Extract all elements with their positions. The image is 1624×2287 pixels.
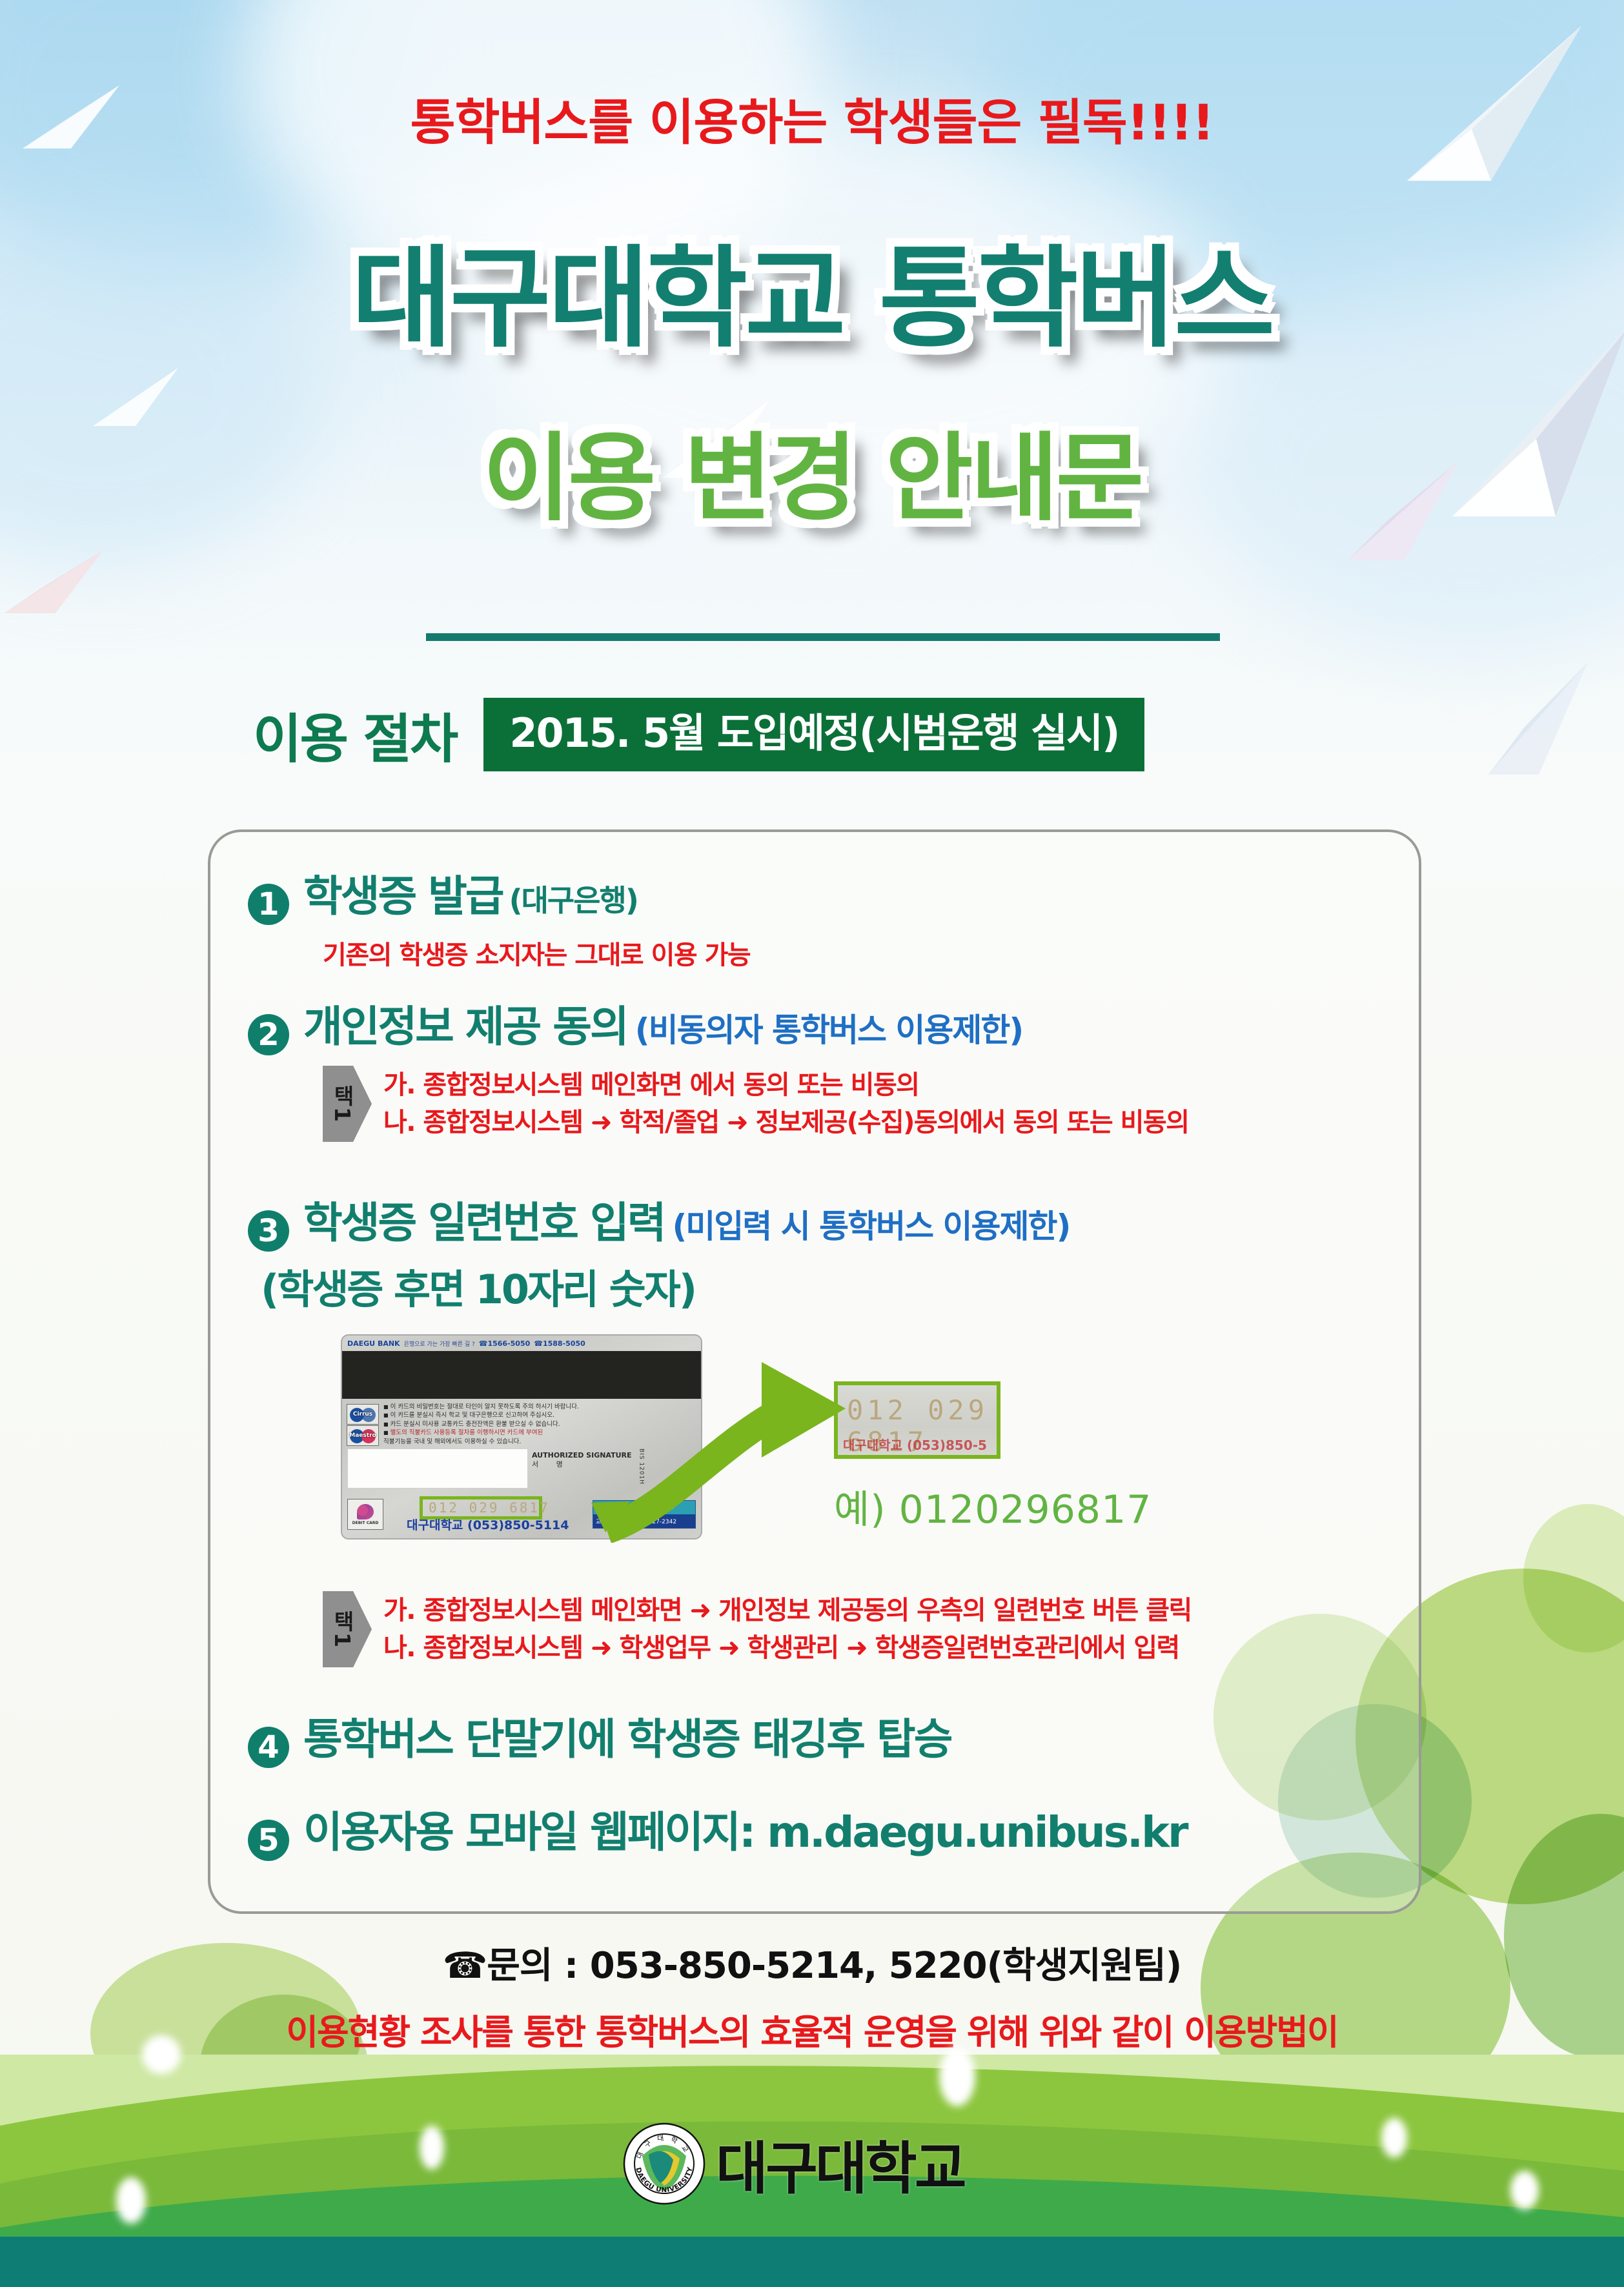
card-scheme-logos: Cirrus Maestro — [346, 1403, 380, 1446]
glow-dot — [939, 2047, 975, 2106]
glow-dot — [1381, 2118, 1407, 2158]
closing-notice-line1: 이용현황 조사를 통한 통학버스의 효율적 운영을 위해 위와 같이 이용방법이 — [0, 2006, 1624, 2058]
university-name: 대구대학교 — [716, 2123, 964, 2205]
university-emblem-icon: 대 구 대 학 교 DAEGU UNIVERSITY 1956 — [623, 2122, 705, 2205]
step-2-choice-a: 가. 종합정보시스템 메인화면 에서 동의 또는 비동의 — [383, 1066, 1189, 1104]
step-2-choice-tag: 택1 — [323, 1066, 372, 1142]
paper-plane-icon — [0, 542, 110, 620]
glow-dot — [1510, 2171, 1539, 2210]
step-4-head: 4 통학버스 단말기에 학생증 태깅후 탑승 — [248, 1705, 951, 1767]
step-3-head: 3 학생증 일련번호 입력 (미입력 시 통학버스 이용제한) — [248, 1188, 1192, 1250]
step-3-title: 학생증 일련번호 입력 — [303, 1188, 664, 1250]
step-5-head: 5 이용자용 모바일 웹페이지: m.daegu.unibus.kr — [248, 1798, 1187, 1860]
step-1-subtext: 기존의 학생증 소지자는 그대로 이용 가능 — [323, 934, 750, 971]
serial-zoom-callout: 012 029 6817 대구대학교 (053)850-5 예) 0120296… — [834, 1381, 1163, 1534]
step-2: 2 개인정보 제공 동의 (비동의자 통학버스 이용제한) 택1 가. 종합정보… — [248, 992, 1189, 1142]
card-phone-1: ☎1566-5050 — [479, 1339, 531, 1348]
serial-example-text: 예) 0120296817 — [834, 1478, 1163, 1534]
section-banner: 2015. 5월 도입예정(시범운행 실시) — [483, 698, 1144, 771]
debit-mark-shape — [357, 1504, 374, 1520]
paper-plane-icon — [1485, 652, 1594, 781]
step-3-choice-a: 가. 종합정보시스템 메인화면 ➜ 개인정보 제공동의 우측의 일련번호 버튼 … — [383, 1592, 1192, 1629]
step-2-head: 2 개인정보 제공 동의 (비동의자 통학버스 이용제한) — [248, 992, 1189, 1054]
step-2-choice-group: 택1 가. 종합정보시스템 메인화면 에서 동의 또는 비동의 나. 종합정보시… — [323, 1066, 1189, 1142]
card-phone-2: ☎1588-5050 — [534, 1339, 585, 1348]
step-5-badge: 5 — [248, 1820, 289, 1861]
step-4: 4 통학버스 단말기에 학생증 태깅후 탑승 — [248, 1705, 951, 1767]
glow-dot — [420, 2126, 444, 2170]
glow-dot — [116, 2177, 146, 2224]
card-bank-phone: 대구대학교 (053)850-5114 — [407, 1516, 569, 1533]
card-serial-number: 012 029 6817 — [429, 1500, 550, 1516]
step-4-title: 통학버스 단말기에 학생증 태깅후 탑승 — [303, 1705, 951, 1767]
bottom-teal-band — [0, 2237, 1624, 2287]
step-2-choice-lines: 가. 종합정보시스템 메인화면 에서 동의 또는 비동의 나. 종합정보시스템 … — [383, 1066, 1189, 1142]
step-3-choice-tag: 택1 — [323, 1591, 372, 1667]
bullet-icon: ■ — [383, 1404, 389, 1410]
maestro-icon: Maestro — [347, 1425, 379, 1446]
bullet-icon: ■ — [383, 1421, 389, 1427]
cirrus-icon: Cirrus — [347, 1404, 379, 1425]
step-1: 1 학생증 발급 (대구은행) 기존의 학생증 소지자는 그대로 이용 가능 — [248, 862, 750, 971]
contact-line: ☎문의 : 053-850-5214, 5220(학생지원팀) — [0, 1936, 1624, 1989]
step-1-head: 1 학생증 발급 (대구은행) — [248, 862, 750, 924]
debit-card-label: DEBIT CARD — [352, 1521, 379, 1525]
watercolor-blob — [1523, 1504, 1624, 1652]
step-3-choice-group: 택1 가. 종합정보시스템 메인화면 ➜ 개인정보 제공동의 우측의 일련번호 … — [323, 1591, 1192, 1667]
curved-arrow-icon — [568, 1349, 865, 1543]
card-bank-name: DAEGU BANK — [347, 1339, 400, 1348]
section-title: 이용 절차 — [253, 696, 456, 773]
poster-title-line1: 대구대학교 통학버스 — [0, 209, 1624, 368]
card-bank-slogan: 은행으로 가는 가장 빠른 길 ? — [404, 1339, 475, 1348]
glow-dot — [142, 2035, 181, 2074]
debit-card-icon: DEBIT CARD — [347, 1499, 383, 1530]
maestro-label: Maestro — [349, 1432, 376, 1439]
poster-title-line2: 이용 변경 안내문 — [0, 400, 1624, 539]
card-term-text: 별도의 직불카드 사용등록 절차를 이행하시면 카드에 부여된 — [391, 1429, 543, 1436]
cirrus-label: Cirrus — [353, 1411, 372, 1418]
step-2-title: 개인정보 제공 동의 — [303, 992, 627, 1054]
step-3-choice-b: 나. 종합정보시스템 ➜ 학생업무 ➜ 학생관리 ➜ 학생증일련번호관리에서 입… — [383, 1629, 1192, 1667]
step-1-paren: (대구은행) — [509, 877, 638, 920]
step-1-title: 학생증 발급 — [303, 862, 503, 924]
poster-root: 통학버스를 이용하는 학생들은 필독!!!! 대구대학교 통학버스 이용 변경 … — [0, 0, 1624, 2287]
step-3-choice-lines: 가. 종합정보시스템 메인화면 ➜ 개인정보 제공동의 우측의 일련번호 버튼 … — [383, 1591, 1192, 1667]
step-3-title-line2: (학생증 후면 10자리 숫자) — [261, 1257, 1192, 1315]
step-3-paren: (미입력 시 통학버스 이용제한) — [672, 1201, 1070, 1247]
section-header: 이용 절차 2015. 5월 도입예정(시범운행 실시) — [253, 696, 1144, 773]
step-2-choice-tag-label: 택1 — [324, 1066, 360, 1142]
step-2-paren: (비동의자 통학버스 이용제한) — [635, 1004, 1023, 1051]
bullet-icon: ■ — [383, 1412, 389, 1418]
university-logo: 대 구 대 학 교 DAEGU UNIVERSITY 1956 대구대학교 — [623, 2122, 964, 2205]
bullet-icon: ■ — [383, 1430, 389, 1436]
card-term-text: 직불기능을 국내 및 해외에서도 이용하실 수 있습니다. — [383, 1438, 521, 1445]
card-term-text: 카드 분실시 미사용 교통카드 충전잔액은 환불 받으실 수 없습니다. — [391, 1421, 560, 1428]
step-3-badge: 3 — [248, 1210, 289, 1252]
step-5-title: 이용자용 모바일 웹페이지: m.daegu.unibus.kr — [303, 1798, 1187, 1860]
title-divider — [426, 633, 1220, 641]
step-1-badge: 1 — [248, 884, 289, 925]
signature-panel — [347, 1448, 528, 1489]
step-3-choice-tag-label: 택1 — [324, 1591, 360, 1667]
card-serial-area: 012 029 6817 대구대학교 (053)850-5114 — [389, 1496, 587, 1532]
step-4-badge: 4 — [248, 1727, 289, 1768]
step-2-choice-b: 나. 종합정보시스템 ➜ 학적/졸업 ➜ 정보제공(수집)동의에서 동의 또는 … — [383, 1104, 1189, 1141]
headline-text: 통학버스를 이용하는 학생들은 필독!!!! — [0, 83, 1624, 154]
step-2-badge: 2 — [248, 1014, 289, 1055]
card-term-text: 이 카드를 분실시 즉시 학교 및 대구은행으로 신고하여 주십시오. — [391, 1412, 554, 1419]
card-term-text: 이 카드의 비밀번호는 절대로 타인이 알지 못하도록 주의 하시기 바랍니다. — [391, 1403, 579, 1410]
step-5: 5 이용자용 모바일 웹페이지: m.daegu.unibus.kr — [248, 1798, 1187, 1860]
